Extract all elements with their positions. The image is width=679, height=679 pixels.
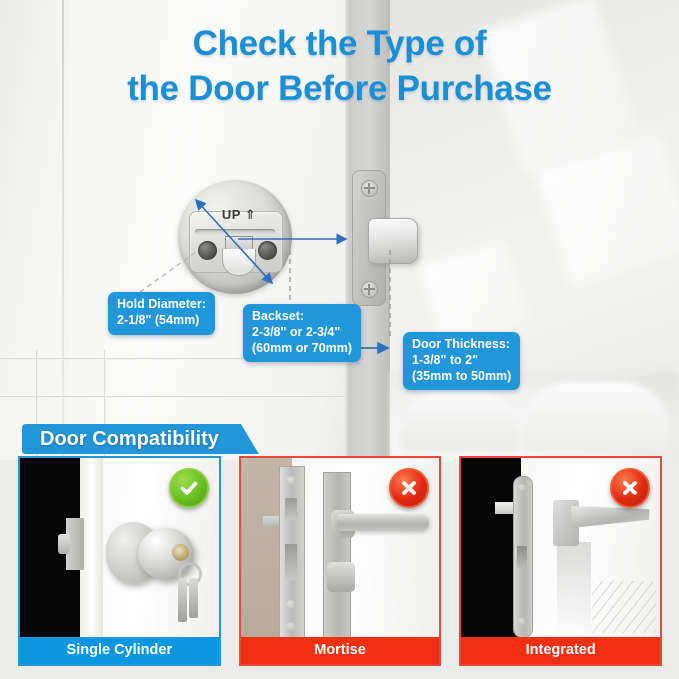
- handle-shadow: [557, 542, 591, 637]
- key-icon: [189, 578, 198, 618]
- card-mortise[interactable]: Mortise: [239, 456, 442, 666]
- callout-backset-value-2: (60mm or 70mm): [252, 341, 352, 357]
- up-marking-label: UP ⇑: [209, 207, 269, 223]
- callout-door-thickness-value-2: (35mm to 50mm): [412, 369, 511, 385]
- callout-backset: Backset: 2-3/8" or 2-3/4" (60mm or 70mm): [243, 304, 361, 362]
- status-badge-compatible: [169, 468, 209, 508]
- callout-hole-diameter-value: 2-1/8" (54mm): [117, 313, 206, 329]
- screw-icon: [286, 622, 296, 632]
- card-mortise-caption: Mortise: [241, 637, 440, 664]
- screw-icon: [286, 476, 296, 486]
- card-single-cylinder-caption: Single Cylinder: [20, 637, 219, 664]
- page-title: Check the Type of the Door Before Purcha…: [0, 22, 679, 112]
- latch-opening: [285, 498, 297, 520]
- callout-backset-value-1: 2-3/8" or 2-3/4": [252, 325, 352, 341]
- latch-slot: [195, 229, 275, 235]
- compatibility-card-row: Single Cylinder: [18, 456, 662, 662]
- callout-door-thickness-title: Door Thickness:: [412, 337, 511, 353]
- screw-icon: [286, 600, 296, 610]
- screw-icon: [361, 281, 378, 298]
- card-integrated-photo: [461, 458, 660, 637]
- thumb-turn: [327, 562, 355, 592]
- callout-hole-diameter-title: Hold Diameter:: [117, 297, 206, 313]
- screw-icon: [361, 180, 378, 197]
- key-cylinder: [172, 544, 189, 561]
- callout-door-thickness-value-1: 1-3/8" to 2": [412, 353, 511, 369]
- screw-hole-right: [258, 241, 277, 260]
- lever-handle: [337, 514, 429, 531]
- callout-door-thickness: Door Thickness: 1-3/8" to 2" (35mm to 50…: [403, 332, 520, 390]
- latch-bolt: [495, 502, 515, 514]
- card-integrated-caption: Integrated: [461, 637, 660, 664]
- card-single-cylinder-photo: [20, 458, 219, 637]
- callout-backset-title: Backset:: [252, 309, 352, 325]
- cross-icon: [398, 477, 420, 499]
- door-compatibility-banner: Door Compatibility: [22, 424, 259, 454]
- dark-gap: [461, 458, 521, 637]
- key-icon: [178, 578, 187, 622]
- card-integrated[interactable]: Integrated: [459, 456, 662, 666]
- wall-molding-line: [0, 396, 345, 398]
- door-panel-lines: [592, 581, 656, 633]
- card-single-cylinder[interactable]: Single Cylinder: [18, 456, 221, 666]
- mortise-backplate: [323, 472, 351, 637]
- check-icon: [178, 477, 200, 499]
- title-line-2: the Door Before Purchase: [127, 69, 552, 108]
- cross-icon: [619, 477, 641, 499]
- infographic: Check the Type of the Door Before Purcha…: [0, 0, 679, 679]
- card-mortise-photo: [241, 458, 440, 637]
- sofa-cushion: [520, 382, 670, 452]
- keys: [170, 562, 204, 624]
- latch-bolt: [368, 218, 418, 264]
- latch-tongue: [58, 534, 70, 554]
- status-badge-incompatible: [610, 468, 650, 508]
- deadbolt-opening: [285, 544, 297, 580]
- callout-hole-diameter: Hold Diameter: 2-1/8" (54mm): [108, 292, 215, 335]
- latch-opening: [517, 546, 527, 568]
- title-line-1: Check the Type of: [193, 24, 487, 63]
- screw-hole-left: [198, 241, 217, 260]
- sofa-cushion: [400, 392, 520, 452]
